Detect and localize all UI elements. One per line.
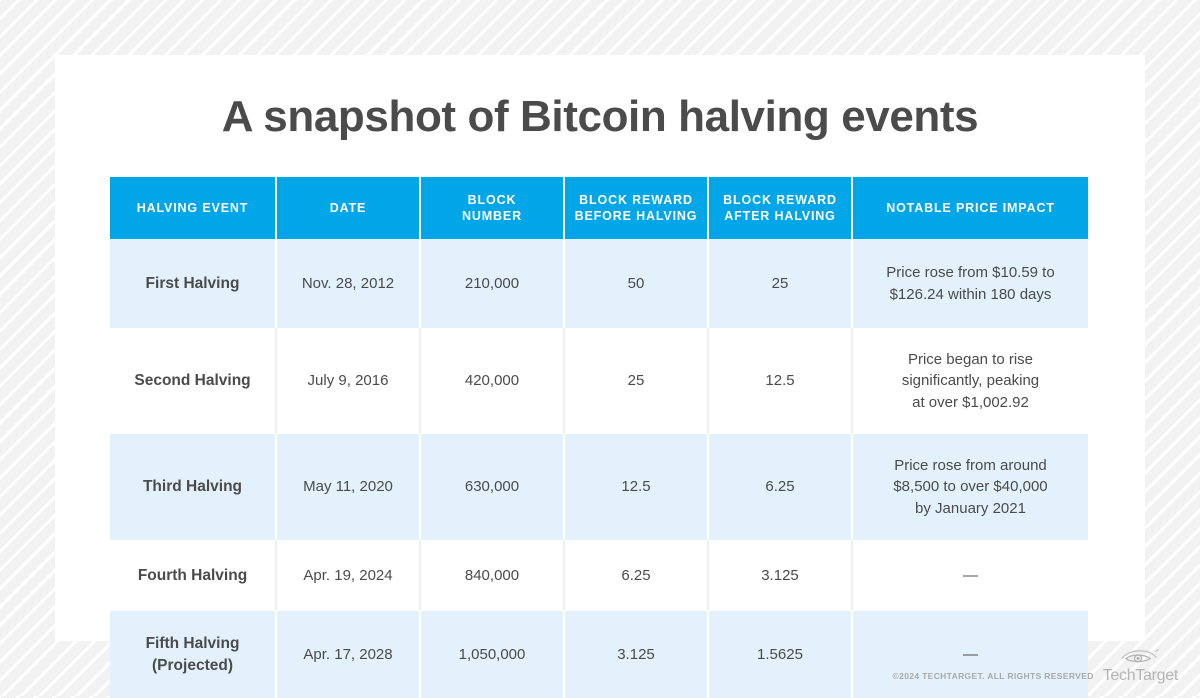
column-header-reward-before: BLOCK REWARD BEFORE HALVING	[564, 177, 708, 239]
cell-reward-before: 50	[564, 239, 708, 328]
cell-price-impact: Price began to rise significantly, peaki…	[852, 328, 1088, 434]
techtarget-wordmark: TechTarget	[1103, 668, 1178, 684]
cell-date: Apr. 17, 2028	[276, 611, 420, 698]
copyright-notice: ©2024 TECHTARGET. ALL RIGHTS RESERVED	[893, 671, 1094, 684]
table-row: First Halving Nov. 28, 2012 210,000 50 2…	[110, 239, 1088, 328]
bitcoin-halving-table: HALVING EVENT DATE BLOCK NUMBER BLOCK RE…	[110, 177, 1088, 698]
cell-block-number: 210,000	[420, 239, 564, 328]
cell-date: May 11, 2020	[276, 434, 420, 540]
cell-halving-event: Fourth Halving	[110, 540, 276, 611]
table-row: Second Halving July 9, 2016 420,000 25 1…	[110, 328, 1088, 434]
cell-halving-event: Fifth Halving (Projected)	[110, 611, 276, 698]
cell-block-number: 420,000	[420, 328, 564, 434]
cell-reward-before: 25	[564, 328, 708, 434]
eye-icon	[1119, 646, 1161, 667]
cell-halving-event: First Halving	[110, 239, 276, 328]
cell-price-impact: —	[852, 540, 1088, 611]
infographic-stage: A snapshot of Bitcoin halving events HAL…	[0, 0, 1200, 696]
column-header-block-number: BLOCK NUMBER	[420, 177, 564, 239]
footer: ©2024 TECHTARGET. ALL RIGHTS RESERVED Te…	[893, 646, 1179, 684]
cell-block-number: 630,000	[420, 434, 564, 540]
cell-block-number: 1,050,000	[420, 611, 564, 698]
cell-reward-after: 3.125	[708, 540, 852, 611]
cell-halving-event: Third Halving	[110, 434, 276, 540]
cell-block-number: 840,000	[420, 540, 564, 611]
cell-reward-before: 12.5	[564, 434, 708, 540]
cell-halving-event: Second Halving	[110, 328, 276, 434]
table-row: Fourth Halving Apr. 19, 2024 840,000 6.2…	[110, 540, 1088, 611]
cell-reward-after: 1.5625	[708, 611, 852, 698]
techtarget-logo: TechTarget	[1103, 646, 1178, 684]
cell-reward-before: 6.25	[564, 540, 708, 611]
cell-date: July 9, 2016	[276, 328, 420, 434]
cell-reward-after: 12.5	[708, 328, 852, 434]
cell-date: Nov. 28, 2012	[276, 239, 420, 328]
cell-price-impact: Price rose from around $8,500 to over $4…	[852, 434, 1088, 540]
cell-reward-after: 25	[708, 239, 852, 328]
column-header-price-impact: NOTABLE PRICE IMPACT	[852, 177, 1088, 239]
halving-table-container: HALVING EVENT DATE BLOCK NUMBER BLOCK RE…	[110, 177, 1088, 698]
table-header-row: HALVING EVENT DATE BLOCK NUMBER BLOCK RE…	[110, 177, 1088, 239]
content-card: A snapshot of Bitcoin halving events HAL…	[55, 55, 1145, 641]
table-header: HALVING EVENT DATE BLOCK NUMBER BLOCK RE…	[110, 177, 1088, 239]
column-header-reward-after: BLOCK REWARD AFTER HALVING	[708, 177, 852, 239]
table-row: Third Halving May 11, 2020 630,000 12.5 …	[110, 434, 1088, 540]
cell-reward-after: 6.25	[708, 434, 852, 540]
page-title: A snapshot of Bitcoin halving events	[55, 93, 1145, 141]
table-body: First Halving Nov. 28, 2012 210,000 50 2…	[110, 239, 1088, 698]
cell-date: Apr. 19, 2024	[276, 540, 420, 611]
column-header-halving-event: HALVING EVENT	[110, 177, 276, 239]
column-header-date: DATE	[276, 177, 420, 239]
cell-price-impact: Price rose from $10.59 to $126.24 within…	[852, 239, 1088, 328]
cell-reward-before: 3.125	[564, 611, 708, 698]
